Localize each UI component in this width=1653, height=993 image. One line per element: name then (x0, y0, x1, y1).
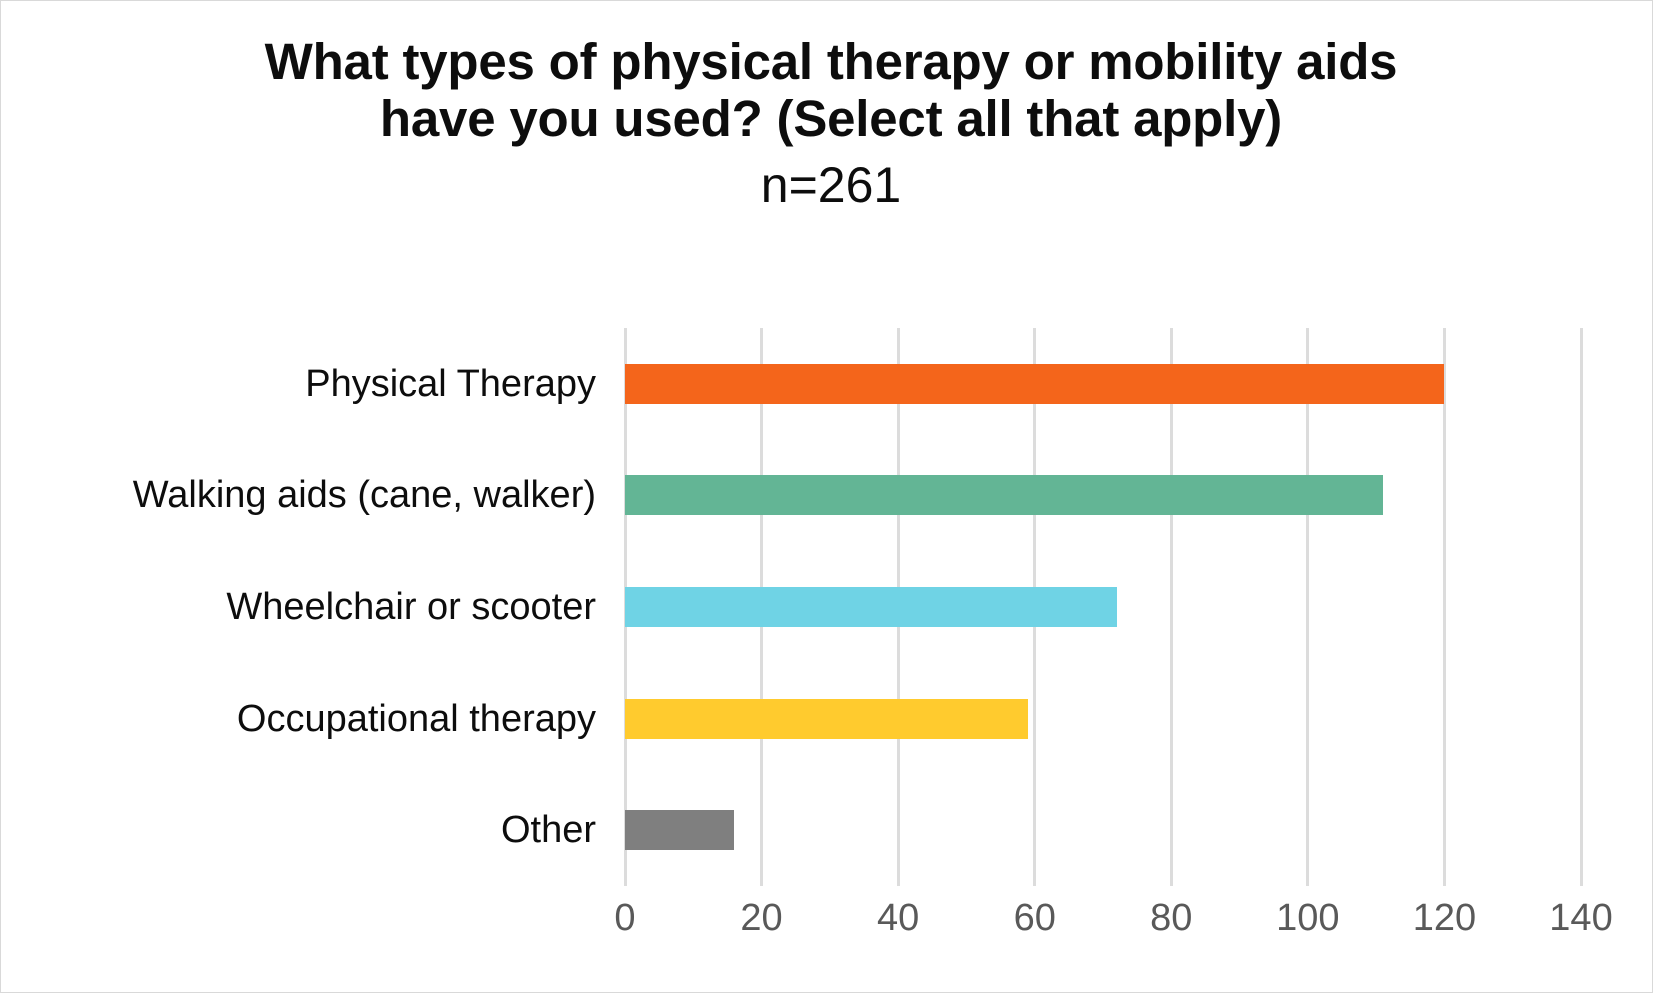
x-tick-label: 100 (1248, 899, 1368, 937)
category-label: Physical Therapy (16, 365, 596, 403)
x-tick-label: 40 (838, 899, 958, 937)
bar-band (625, 328, 1581, 440)
bar-band (625, 663, 1581, 775)
x-tick-label: 80 (1111, 899, 1231, 937)
category-label: Wheelchair or scooter (16, 588, 596, 626)
chart-plot-wrapper: Physical TherapyWalking aids (cane, walk… (1, 1, 1653, 993)
category-label: Walking aids (cane, walker) (16, 476, 596, 514)
x-tick-label: 120 (1384, 899, 1504, 937)
x-tick-label: 20 (702, 899, 822, 937)
category-label: Occupational therapy (16, 700, 596, 738)
bar[interactable] (625, 364, 1444, 404)
bar[interactable] (625, 587, 1117, 627)
bar-band (625, 551, 1581, 663)
chart-slide: What types of physical therapy or mobili… (0, 0, 1653, 993)
bar[interactable] (625, 475, 1383, 515)
x-tick-label: 60 (975, 899, 1095, 937)
category-label: Other (16, 811, 596, 849)
bar-band (625, 774, 1581, 886)
bar[interactable] (625, 699, 1028, 739)
x-tick-label: 140 (1521, 899, 1641, 937)
plot-area (625, 328, 1581, 886)
bar-band (625, 440, 1581, 552)
bar[interactable] (625, 810, 734, 850)
x-tick-label: 0 (565, 899, 685, 937)
